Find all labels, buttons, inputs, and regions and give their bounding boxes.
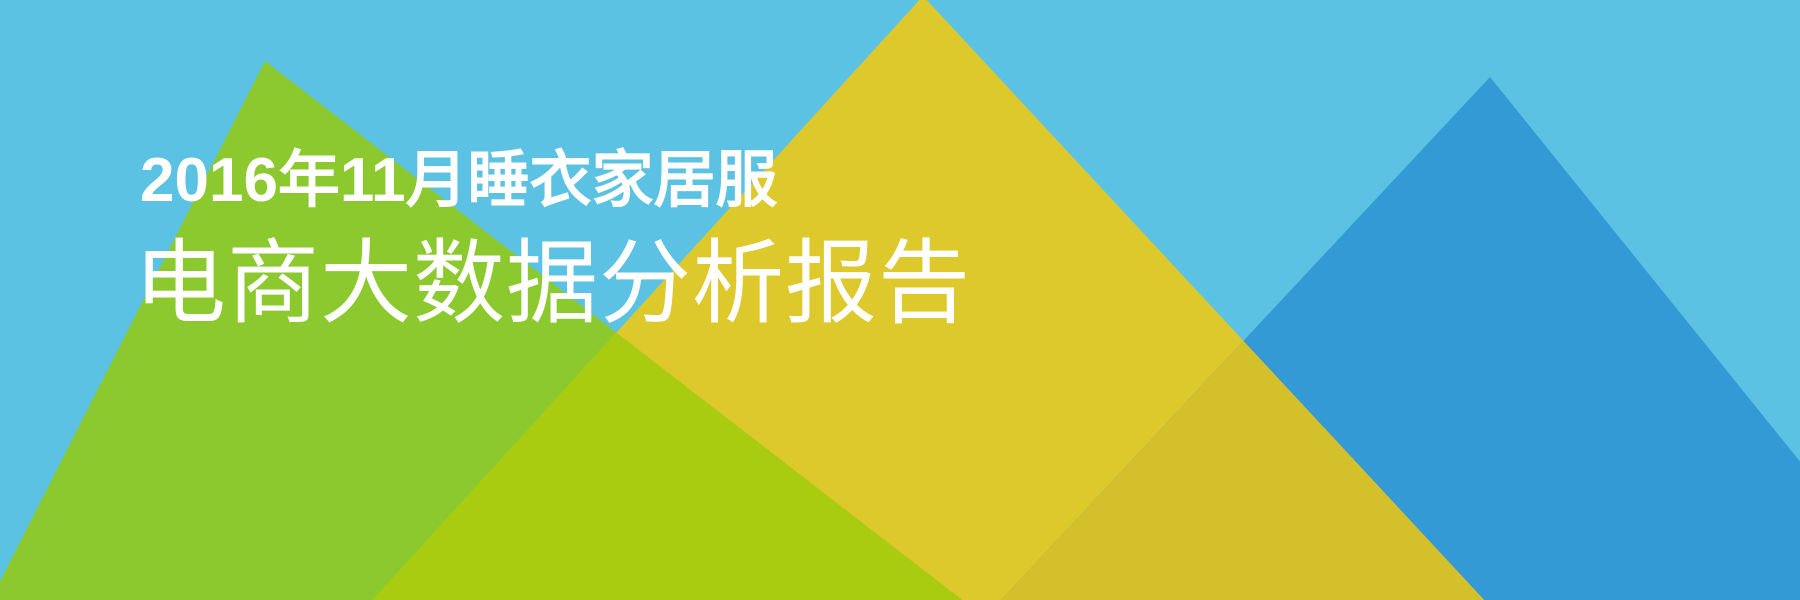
geometric-background [0, 0, 1800, 600]
report-cover-banner: 2016年11月睡衣家居服 电商大数据分析报告 [0, 0, 1800, 600]
